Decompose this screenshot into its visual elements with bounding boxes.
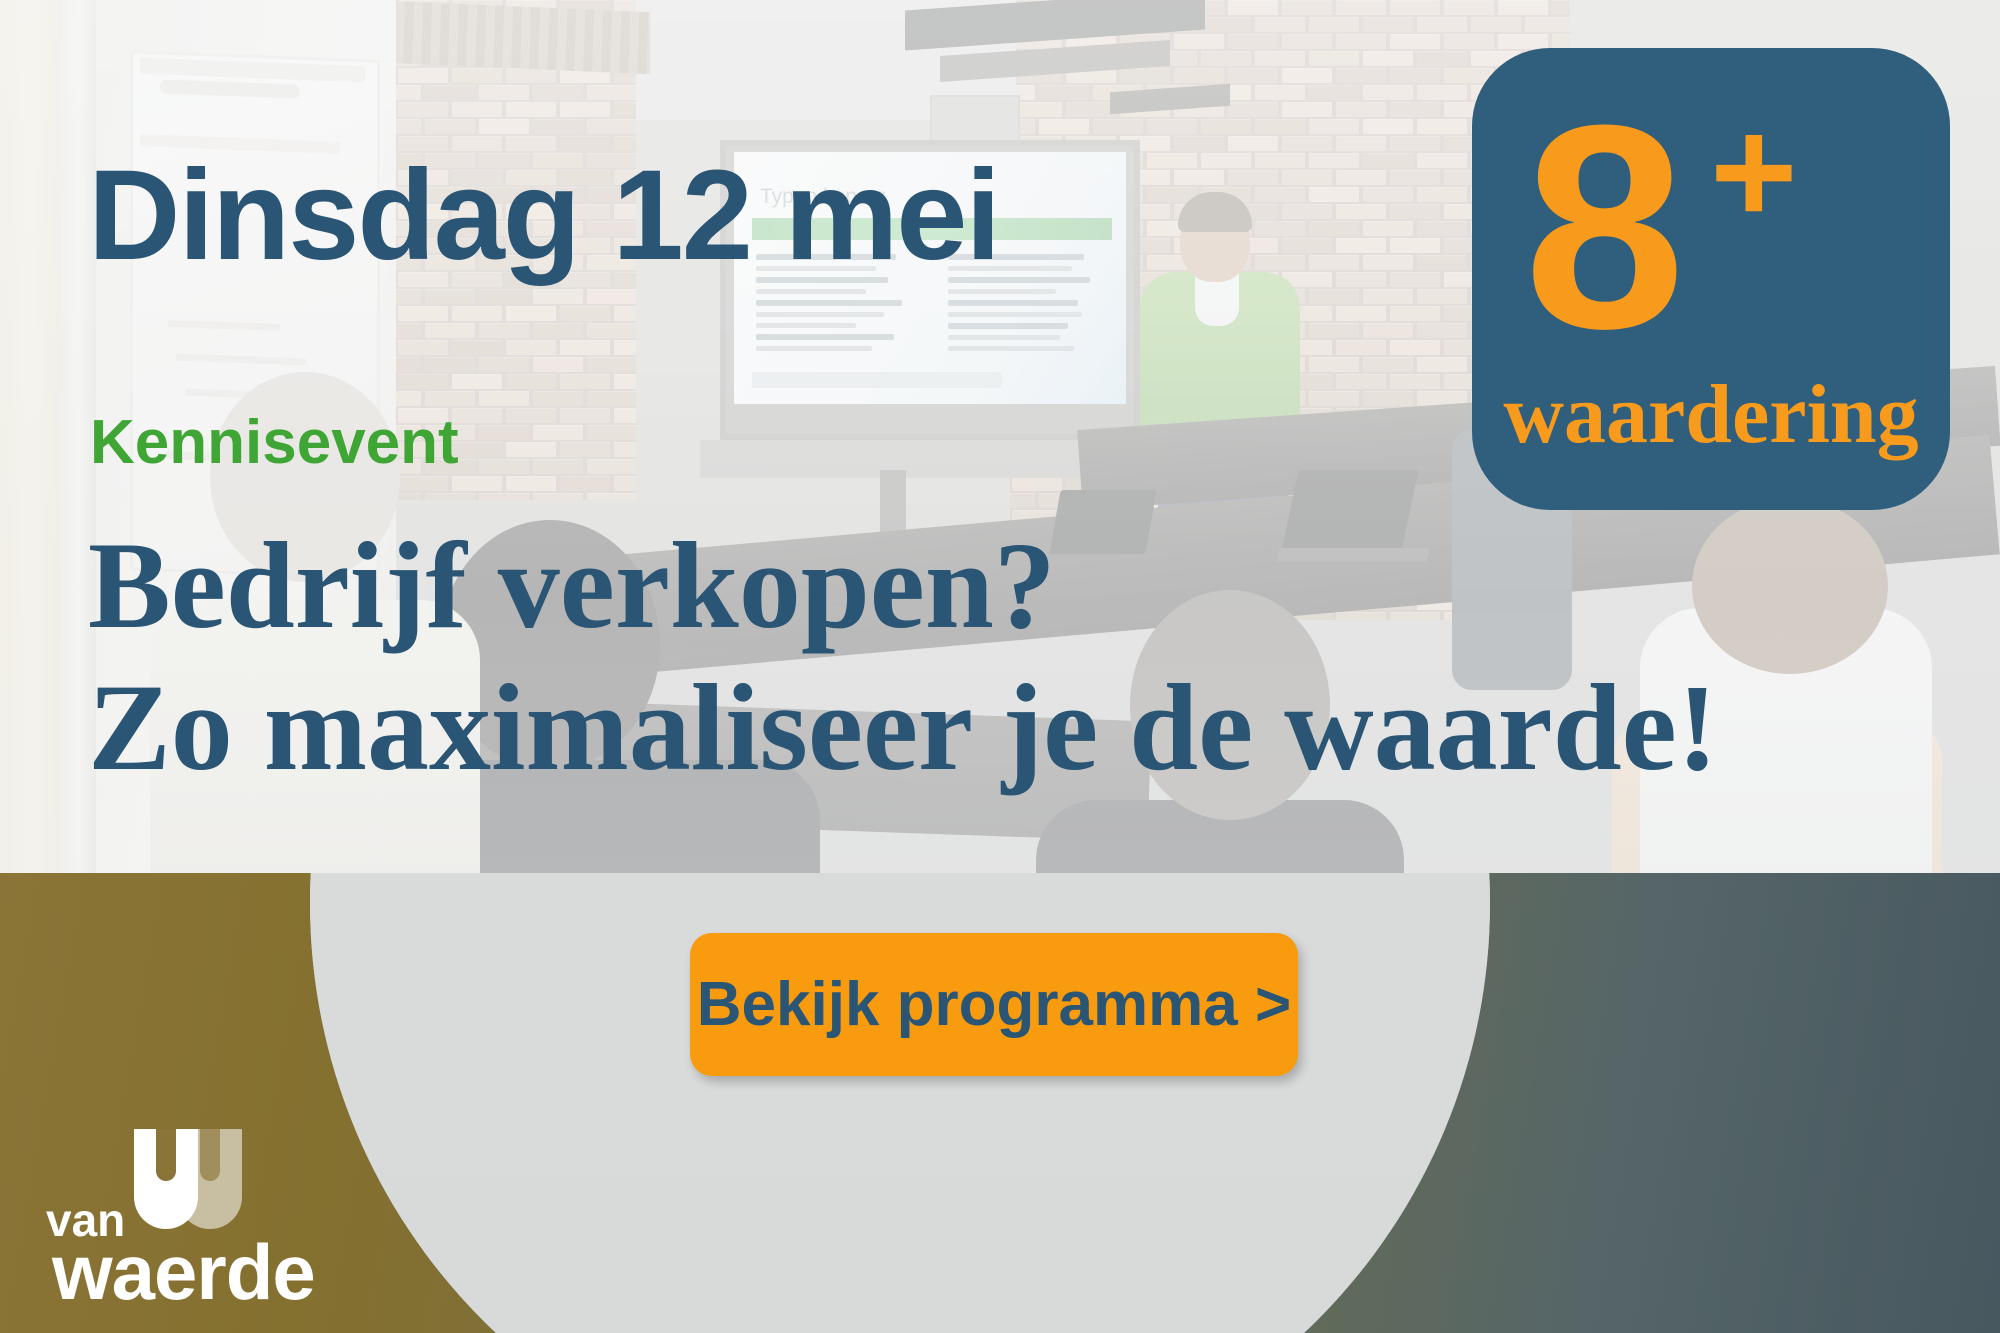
view-programme-button[interactable]: Bekijk programma > xyxy=(690,933,1298,1076)
rating-plus-icon: + xyxy=(1710,96,1798,246)
event-type-label: Kennisevent xyxy=(90,412,459,474)
headline-line-1: Bedrijf verkopen? xyxy=(88,520,1056,651)
promo-banner: Typen kopers xyxy=(0,0,2000,1333)
van-waerde-u-mark-icon xyxy=(134,1129,246,1233)
rating-badge: 8 + waardering xyxy=(1472,48,1950,510)
u-notch-left xyxy=(156,1129,176,1181)
van-waerde-logo[interactable]: van waerde xyxy=(46,1131,376,1291)
u-notch-right xyxy=(200,1129,220,1181)
rating-label: waardering xyxy=(1472,366,1950,463)
logo-word-waerde: waerde xyxy=(52,1227,315,1318)
view-programme-button-label: Bekijk programma > xyxy=(697,969,1291,1040)
rating-score: 8 xyxy=(1524,82,1679,372)
headline-line-2: Zo maximaliseer je de waarde! xyxy=(88,662,1718,793)
event-date: Dinsdag 12 mei xyxy=(88,152,999,280)
